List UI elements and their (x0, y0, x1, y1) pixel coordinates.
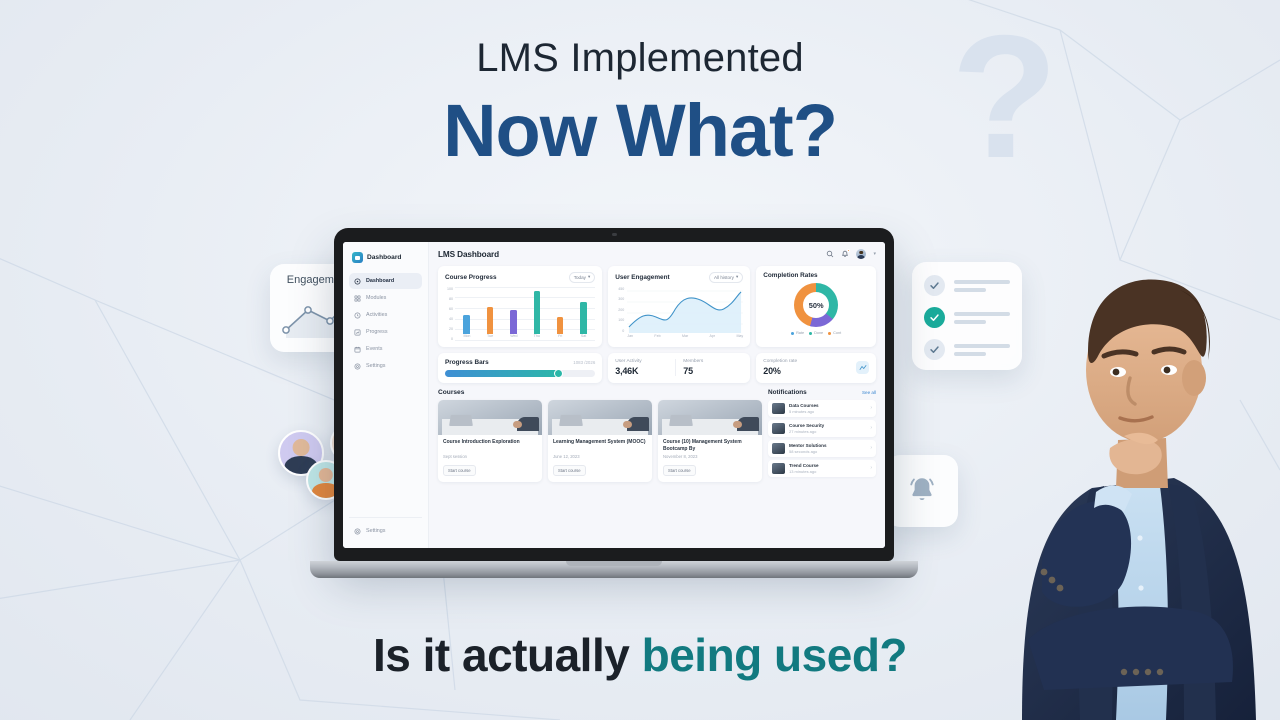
notification-time: 58 seconds ago (789, 449, 866, 454)
see-all-link[interactable]: See all (862, 390, 876, 395)
user-activity-card: User Activity 3,46K Members 75 (608, 353, 750, 383)
topbar-actions: ▾ (826, 249, 876, 259)
x-tick: Mar (682, 334, 688, 341)
y-tick: 60 (445, 307, 453, 311)
donut-center-label: 50% (803, 292, 829, 318)
notification-item[interactable]: Data Courses5 minutes ago› (768, 400, 876, 417)
range-selector-label: Today (574, 275, 586, 280)
search-icon[interactable] (826, 250, 834, 258)
bar-chart-y-axis: 100 80 60 40 20 0 (445, 287, 455, 341)
laptop-lid: Dashboard Dashboard Modules (334, 228, 894, 561)
course-date: June 12, 2023 (553, 454, 647, 459)
laptop-base (310, 561, 918, 578)
card-header: User Engagement All history ▾ (615, 272, 743, 283)
thinking-businessman-photo (984, 220, 1280, 720)
chevron-down-icon[interactable]: ▾ (873, 251, 876, 257)
y-tick: 20 (445, 327, 453, 331)
course-title: Learning Management System (MOOC) (553, 439, 647, 452)
donut-chart: 50% RateDoneCont (763, 283, 869, 335)
progress-track (445, 370, 595, 377)
headline-title: Now What? (0, 92, 1280, 170)
notification-bell-float-card (886, 455, 958, 527)
laptop-screen: Dashboard Dashboard Modules (343, 242, 885, 548)
trend-up-icon (856, 361, 869, 374)
progress-icon (354, 329, 361, 336)
bar-tue (487, 307, 494, 334)
notification-thumbnail (772, 463, 785, 474)
legend-label: Done (814, 331, 823, 335)
x-tick: Apr (710, 334, 716, 341)
notification-title: Data Courses (789, 403, 866, 408)
card-header: Course Progress Today ▾ (445, 272, 595, 283)
sidebar-spacer (349, 375, 422, 517)
x-tick: Fri (557, 334, 564, 341)
notification-time: 27 minutes ago (789, 429, 866, 434)
x-tick: Jan (627, 334, 633, 341)
notification-time: 5 minutes ago (789, 409, 866, 414)
x-tick: Sat (580, 334, 587, 341)
courses-section: Courses Course Introduction ExplorationS… (438, 389, 762, 482)
legend-swatch (791, 332, 794, 335)
sidebar-item-label: Settings (366, 528, 385, 534)
range-selector-label: All history (714, 275, 734, 280)
y-tick: 100 (615, 318, 624, 322)
notification-item[interactable]: Course Security27 minutes ago› (768, 420, 876, 437)
course-date: November 8, 2023 (663, 454, 757, 459)
sidebar-item-label: Progress (366, 329, 388, 335)
charts-row: Course Progress Today ▾ 100 80 60 (438, 266, 876, 347)
stat-grid: User Activity 3,46K Members 75 (615, 359, 743, 376)
course-card[interactable]: Course (10) Management System Bootcamp B… (658, 400, 762, 482)
page-title: LMS Dashboard (438, 250, 499, 259)
course-title: Course (10) Management System Bootcamp B… (663, 439, 757, 452)
course-title: Course Introduction Exploration (443, 439, 537, 452)
y-tick: 0 (445, 337, 453, 341)
check-icon (924, 339, 945, 360)
card-title: Course Progress (445, 274, 497, 281)
area-series (627, 287, 743, 341)
card-header: Completion Rates (763, 272, 869, 279)
notification-title: Course Security (789, 423, 866, 428)
settings-icon (354, 528, 361, 535)
bar-mon (463, 315, 470, 334)
notification-text: Course Security27 minutes ago (789, 423, 866, 434)
chevron-right-icon[interactable]: › (870, 465, 872, 471)
laptop-mockup: Dashboard Dashboard Modules (334, 228, 894, 578)
course-thumbnail (438, 400, 542, 435)
bar-chart-x-axis: MonTueWedThuFriSat (455, 334, 595, 341)
sidebar-item-label: Modules (366, 295, 386, 301)
chevron-right-icon[interactable]: › (870, 425, 872, 431)
start-course-button[interactable]: Start course (663, 465, 696, 476)
donut-ring: 50% (794, 283, 838, 327)
progress-fill (445, 370, 562, 377)
y-tick: 450 (615, 287, 624, 291)
x-tick: May (736, 334, 743, 341)
start-course-button[interactable]: Start course (553, 465, 586, 476)
bar-fri (557, 317, 564, 333)
sidebar-item-modules[interactable]: Modules (349, 290, 422, 306)
completion-rates-card: Completion Rates 50% RateDoneCont (756, 266, 876, 347)
footer-lead: Is it actually (373, 629, 642, 681)
chevron-right-icon[interactable]: › (870, 405, 872, 411)
legend-label: Rate (796, 331, 804, 335)
stat-label: Members (683, 359, 738, 364)
legend-label: Cont (833, 331, 841, 335)
chevron-down-icon: ▾ (588, 274, 590, 280)
stats-row: Progress Bars 1083 /2026 User Act (438, 353, 876, 383)
course-body: Learning Management System (MOOC)June 12… (548, 435, 652, 477)
activities-icon (354, 312, 361, 319)
brand-logo-block: Dashboard (349, 250, 422, 273)
notification-text: Data Courses5 minutes ago (789, 403, 866, 414)
bar-chart: 100 80 60 40 20 0 (445, 287, 595, 341)
notification-title: Trend Course (789, 463, 866, 468)
x-tick: Thu (534, 334, 541, 341)
notification-thumbnail (772, 423, 785, 434)
bar-series (455, 287, 595, 334)
legend-item: Done (809, 331, 823, 335)
sidebar-item-settings-bottom[interactable]: Settings (349, 523, 422, 539)
bar-thu (534, 291, 541, 333)
events-icon (354, 346, 361, 353)
bell-icon (905, 474, 939, 508)
card-title: Completion Rates (763, 272, 817, 279)
course-progress-card: Course Progress Today ▾ 100 80 60 (438, 266, 602, 347)
completion-rate-text: Completion rate 20% (763, 359, 797, 376)
progress-meta: 1083 /2026 (573, 360, 595, 365)
x-tick: Feb (654, 334, 660, 341)
bar-wed (510, 310, 517, 334)
legend-swatch (809, 332, 812, 335)
brand-name: Dashboard (367, 254, 401, 261)
chevron-right-icon[interactable]: › (870, 445, 872, 451)
bar-chart-plot: MonTueWedThuFriSat (455, 287, 595, 341)
notification-items: Data Courses5 minutes ago›Course Securit… (768, 400, 876, 477)
section-title: Notifications (768, 389, 807, 396)
course-card[interactable]: Course Introduction ExplorationSept sess… (438, 400, 542, 482)
card-header: Progress Bars 1083 /2026 (445, 359, 595, 366)
bar-sat (580, 302, 587, 334)
sidebar-item-dashboard[interactable]: Dashboard (349, 273, 422, 289)
notification-badge (847, 249, 850, 252)
course-thumbnail (548, 400, 652, 435)
footer-accent: being used? (642, 629, 907, 681)
sidebar-item-settings[interactable]: Settings (349, 358, 422, 374)
stat-value: 20% (763, 366, 797, 376)
settings-icon (354, 363, 361, 370)
avatar[interactable] (856, 249, 866, 259)
stat-members: Members 75 (675, 359, 743, 376)
stat-value: 75 (683, 366, 738, 376)
section-title: Courses (438, 389, 762, 396)
notification-text: Trend Course13 minutes ago (789, 463, 866, 474)
logo-icon (352, 252, 363, 263)
chevron-down-icon: ▾ (736, 274, 738, 280)
x-tick: Wed (510, 334, 517, 341)
notification-thumbnail (772, 403, 785, 414)
sidebar-bottom-section: Settings (349, 517, 422, 540)
sidebar-item-label: Settings (366, 363, 385, 369)
sidebar-item-progress[interactable]: Progress (349, 324, 422, 340)
courses-list: Course Introduction ExplorationSept sess… (438, 400, 762, 482)
area-chart-y-axis: 450 300 200 100 0 (615, 287, 626, 333)
notifications-section: Notifications See all Data Courses5 minu… (768, 389, 876, 482)
notifications-header: Notifications See all (768, 389, 876, 396)
card-title: User Engagement (615, 274, 669, 281)
webcam-icon (612, 233, 617, 236)
y-tick: 100 (445, 287, 453, 291)
stat-label: User Activity (615, 359, 670, 364)
y-tick: 0 (615, 329, 624, 333)
sidebar-item-label: Events (366, 346, 382, 352)
course-thumbnail (658, 400, 762, 435)
course-date: Sept session (443, 454, 537, 459)
dashboard-topbar: LMS Dashboard ▾ (438, 249, 876, 259)
course-card[interactable]: Learning Management System (MOOC)June 12… (548, 400, 652, 482)
notification-item[interactable]: Mentor Solutions58 seconds ago› (768, 440, 876, 457)
y-tick: 40 (445, 317, 453, 321)
progress-knob[interactable] (554, 369, 563, 378)
modules-icon (354, 295, 361, 302)
y-tick: 80 (445, 297, 453, 301)
area-chart: 450 300 200 100 0 (615, 287, 743, 341)
start-course-button[interactable]: Start course (443, 465, 476, 476)
bell-icon[interactable] (841, 250, 849, 258)
stat-user-activity: User Activity 3,46K (615, 359, 675, 376)
card-title: Progress Bars (445, 359, 489, 366)
y-tick: 300 (615, 297, 624, 301)
course-body: Course (10) Management System Bootcamp B… (658, 435, 762, 477)
range-selector-history[interactable]: All history ▾ (709, 272, 743, 283)
y-tick: 200 (615, 308, 624, 312)
headline-subtitle: LMS Implemented (0, 38, 1280, 78)
range-selector-today[interactable]: Today ▾ (569, 272, 596, 283)
legend-item: Rate (791, 331, 804, 335)
dashboard-main: LMS Dashboard ▾ (429, 242, 885, 548)
area-chart-x-axis: JanFebMarAprMay (627, 334, 743, 341)
user-engagement-card: User Engagement All history ▾ 450 300 20… (608, 266, 750, 347)
dashboard-sidebar: Dashboard Dashboard Modules (343, 242, 429, 548)
x-tick: Tue (487, 334, 494, 341)
notification-time: 13 minutes ago (789, 469, 866, 474)
notification-item[interactable]: Trend Course13 minutes ago› (768, 460, 876, 477)
completion-rate-card: Completion rate 20% (756, 353, 876, 383)
notification-title: Mentor Solutions (789, 443, 866, 448)
legend-swatch (828, 332, 831, 335)
sidebar-item-events[interactable]: Events (349, 341, 422, 357)
dashboard-icon (354, 278, 361, 285)
check-icon (924, 307, 945, 328)
headline-block: LMS Implemented Now What? (0, 38, 1280, 170)
stat-label: Completion rate (763, 359, 797, 364)
course-body: Course Introduction ExplorationSept sess… (438, 435, 542, 477)
sidebar-item-label: Dashboard (366, 278, 394, 284)
content-row: Courses Course Introduction ExplorationS… (438, 389, 876, 482)
check-icon (924, 275, 945, 296)
donut-legend: RateDoneCont (791, 331, 841, 335)
legend-item: Cont (828, 331, 841, 335)
notification-thumbnail (772, 443, 785, 454)
sidebar-item-activities[interactable]: Activities (349, 307, 422, 323)
notification-text: Mentor Solutions58 seconds ago (789, 443, 866, 454)
stat-value: 3,46K (615, 366, 670, 376)
progress-bars-card: Progress Bars 1083 /2026 (438, 353, 602, 383)
x-tick: Mon (463, 334, 470, 341)
sidebar-item-label: Activities (366, 312, 387, 318)
